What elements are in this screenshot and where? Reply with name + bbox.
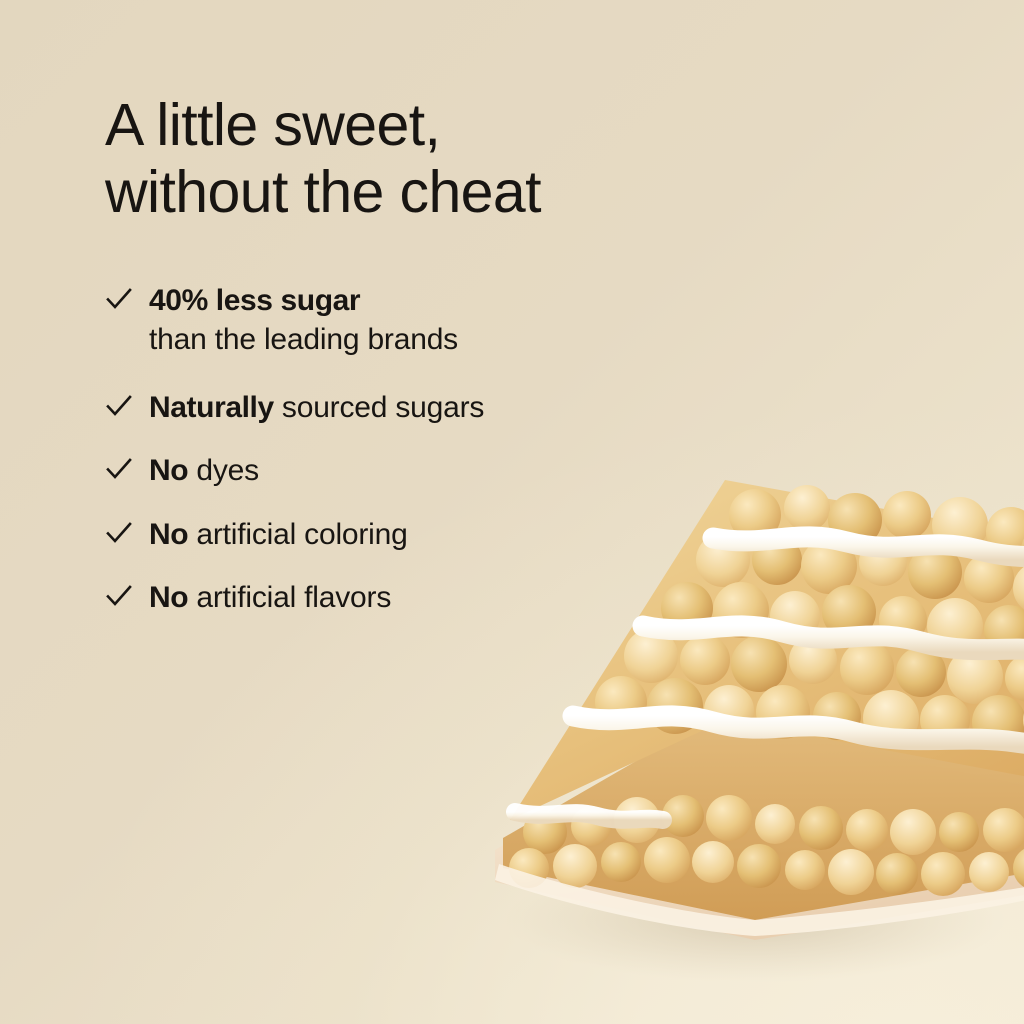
list-item: No artificial coloring xyxy=(105,517,665,552)
benefits-list: 40% less sugar than the leading brands N… xyxy=(105,283,665,616)
marketing-image: A little sweet, without the cheat 40% le… xyxy=(0,0,1024,1024)
benefit-emphasis: 40% less sugar xyxy=(149,284,360,317)
benefit-remainder: dyes xyxy=(188,454,259,487)
benefit-emphasis: Naturally xyxy=(149,391,274,424)
check-icon xyxy=(105,519,133,547)
benefit-subtext: than the leading brands xyxy=(149,320,665,359)
check-icon xyxy=(105,582,133,610)
icing-drizzle-front xyxy=(515,812,663,820)
benefit-emphasis: No xyxy=(149,581,188,614)
list-item: No artificial flavors xyxy=(105,580,665,615)
benefit-remainder: sourced sugars xyxy=(274,391,484,424)
benefit-remainder: artificial coloring xyxy=(188,518,407,551)
benefit-text: No artificial flavors xyxy=(149,581,391,614)
list-item: 40% less sugar than the leading brands xyxy=(105,283,665,359)
benefit-emphasis: No xyxy=(149,454,188,487)
benefit-text: No artificial coloring xyxy=(149,518,408,551)
benefit-emphasis: No xyxy=(149,518,188,551)
page-title: A little sweet, without the cheat xyxy=(105,92,665,227)
benefit-text: No dyes xyxy=(149,454,259,487)
list-item: No dyes xyxy=(105,453,665,488)
check-icon xyxy=(105,455,133,483)
benefit-remainder: artificial flavors xyxy=(188,581,391,614)
benefit-text: Naturally sourced sugars xyxy=(149,391,484,424)
list-item: Naturally sourced sugars xyxy=(105,390,665,425)
check-icon xyxy=(105,392,133,420)
copy-block: A little sweet, without the cheat 40% le… xyxy=(105,92,665,615)
check-icon xyxy=(105,285,133,313)
benefit-text: 40% less sugar xyxy=(149,284,360,317)
drizzle-stripe-front xyxy=(515,812,663,820)
